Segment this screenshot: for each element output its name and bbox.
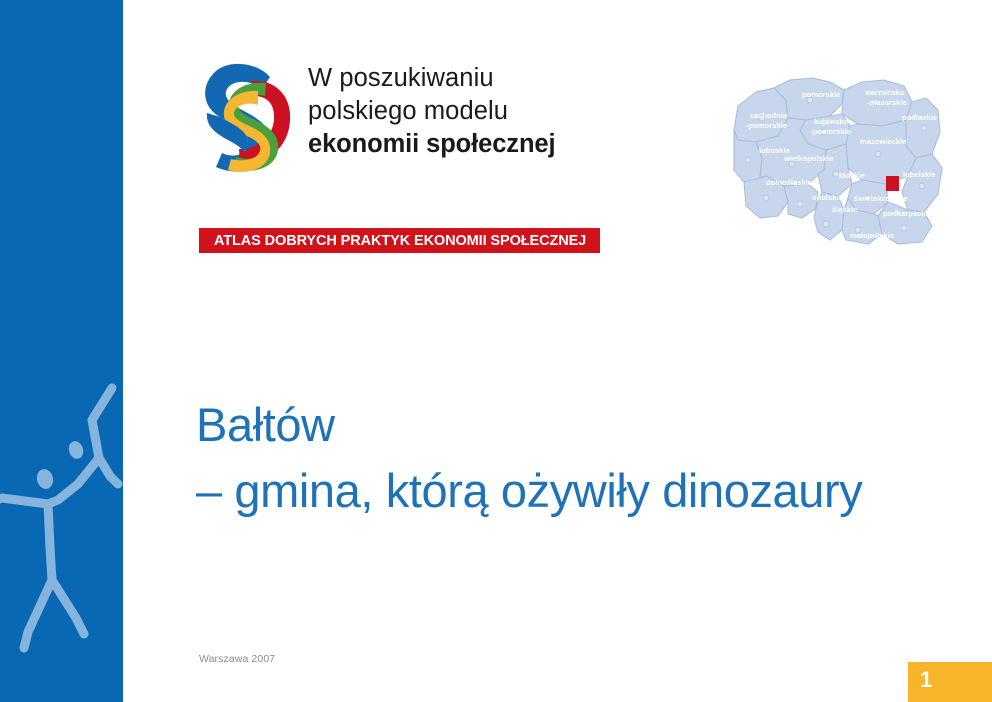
voivodeship-label: mazowieckie: [860, 137, 906, 146]
voivodeship-label: zachodnio: [750, 111, 788, 120]
voivodeship-label: śląskie: [832, 205, 857, 214]
programme-name: W poszukiwaniu polskiego modelu ekonomii…: [308, 57, 556, 161]
voivodeship-label: świętokrzyskie: [854, 194, 908, 203]
page-title-line-2: – gmina, którą ożywiły dinozaury: [196, 458, 916, 524]
slide-page: W poszukiwaniu polskiego modelu ekonomii…: [0, 0, 992, 702]
stylized-s-ribbon-logo-icon: [196, 57, 296, 175]
voivodeship-label: małopolskie: [850, 231, 894, 240]
voivodeship-label: łódzkie: [839, 171, 865, 180]
voivodeship-label: pomorskie: [802, 90, 840, 99]
left-sidebar: [0, 0, 123, 702]
voivodeship-shapes: [734, 78, 942, 244]
voivodeship-label: opolskie: [812, 193, 843, 202]
stick-figure-artwork-icon: [0, 372, 123, 702]
logo-line-3: ekonomii społecznej: [308, 128, 556, 161]
voivodeship-label: -mazurskie: [867, 98, 907, 107]
voivodeship-label: warmińsko: [864, 88, 905, 97]
baltow-map-marker: [886, 176, 899, 191]
series-banner-label: ATLAS DOBRYCH PRAKTYK EKONOMII SPOŁECZNE…: [214, 233, 586, 249]
series-banner: ATLAS DOBRYCH PRAKTYK EKONOMII SPOŁECZNE…: [199, 228, 600, 253]
logo-line-2: polskiego modelu: [308, 95, 556, 128]
page-title: Bałtów – gmina, którą ożywiły dinozaury: [196, 392, 916, 524]
voivodeship-label: -pomorskie: [810, 127, 851, 136]
programme-logo-block: W poszukiwaniu polskiego modelu ekonomii…: [196, 57, 556, 175]
voivodeship-label: lubelskie: [903, 170, 936, 179]
voivodeship-label: kujawsko: [814, 117, 849, 126]
voivodeship-label: -pomorskie: [746, 121, 787, 130]
voivodeship-label: podlaskie: [902, 113, 937, 122]
page-number-label: 1: [920, 667, 932, 693]
page-number-badge: 1: [908, 662, 992, 702]
voivodeship-label: dolnośląskie: [766, 178, 812, 187]
poland-map: zachodnio-pomorskiepomorskiewarmińsko-ma…: [726, 58, 970, 253]
page-title-line-1: Bałtów: [196, 392, 916, 458]
logo-line-1: W poszukiwaniu: [308, 62, 556, 95]
poland-map-svg: zachodnio-pomorskiepomorskiewarmińsko-ma…: [726, 58, 970, 253]
voivodeship-label: podkarpackie: [883, 209, 932, 218]
voivodeship-label: wielkopolskie: [783, 154, 833, 163]
imprint-text: Warszawa 2007: [199, 653, 275, 665]
